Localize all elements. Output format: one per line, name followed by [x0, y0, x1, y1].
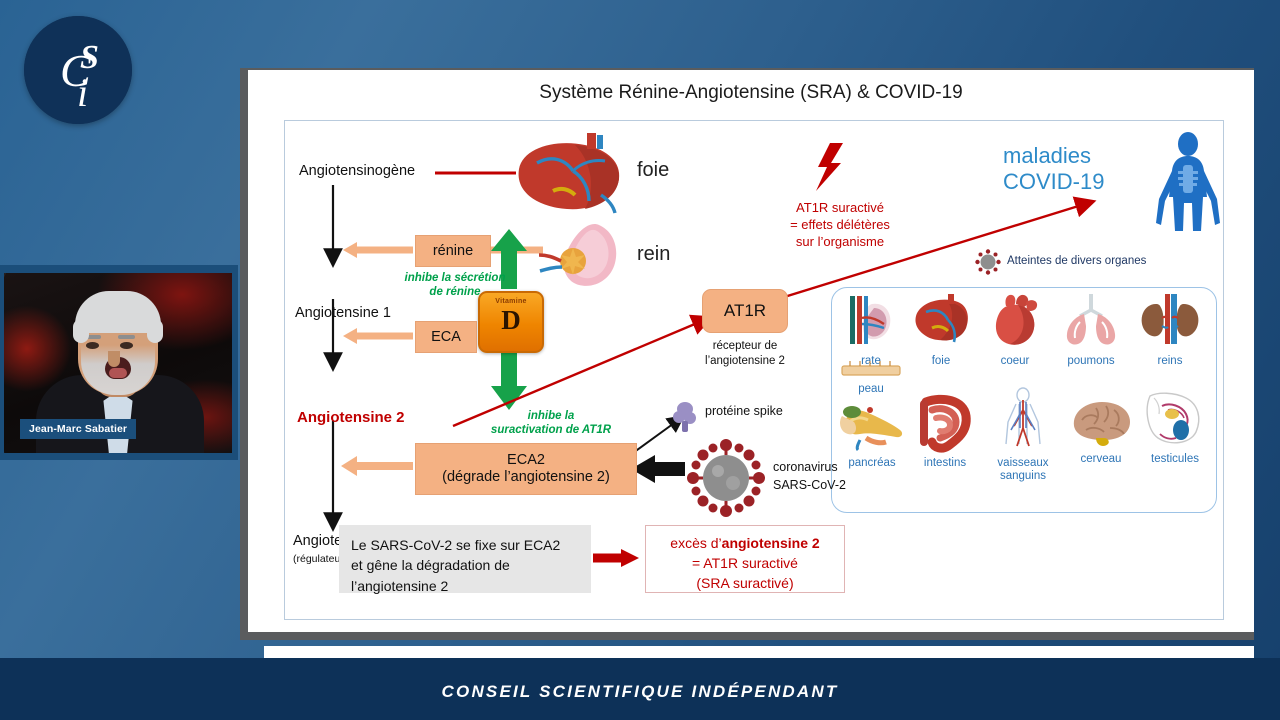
conclusion-grey-box: Le SARS-CoV-2 se fixe sur ECA2 et gêne l… [339, 525, 591, 593]
speaker-nose [108, 351, 120, 367]
speaker-brow-right [118, 335, 135, 339]
logo-letter-i: i [77, 70, 88, 115]
presentation-screen: C S i Jean-Marc Sabatier Système Rénine-… [0, 0, 1280, 720]
label-angiotensine-2: Angiotensine 2 [297, 409, 405, 426]
note-inhibe-suractivation: inhibe la suractivation de AT1R [471, 409, 631, 438]
label-coronavirus-line1: coronavirus [773, 459, 846, 477]
lightning-bolt-icon [816, 143, 843, 191]
kidneys-icon [1134, 292, 1206, 350]
banner-text: CONSEIL SCIENTIFIQUE INDÉPENDANT [0, 682, 1280, 702]
box-eca2-line2: (dégrade l’angiotensine 2) [442, 469, 610, 486]
alert-line3: sur l’organisme [745, 233, 935, 250]
vitamin-d-letter: D [480, 307, 542, 334]
virus-small-icon [975, 249, 1001, 275]
label-rein: rein [637, 243, 670, 266]
intestines-icon [912, 394, 978, 452]
skin-icon [838, 360, 904, 378]
arrow-virus-to-eca2 [631, 455, 685, 483]
label-angiotensinogene: Angiotensinogène [299, 163, 415, 179]
organ-testicules-label: testicules [1140, 453, 1210, 466]
slide-title: Système Rénine-Angiotensine (SRA) & COVI… [248, 82, 1254, 104]
liver-icon [509, 133, 627, 217]
conclusion-red-line1-prefix: excès d’ [670, 535, 721, 551]
speaker-eye-right [120, 342, 133, 349]
organ-panel: rate foie [831, 287, 1217, 513]
organ-foie-label: foie [908, 355, 974, 368]
conclusion-red-line2: = AT1R suractivé [652, 554, 838, 574]
label-coronavirus: coronavirus SARS-CoV-2 [773, 459, 846, 494]
label-spike-protein: protéine spike [705, 404, 783, 418]
organ-cerveau-label: cerveau [1066, 453, 1136, 466]
heart-icon [980, 292, 1050, 350]
note-inhibe-secretion: inhibe la sécrétion de rénine [395, 271, 515, 300]
csi-logo-mark: C S i [24, 16, 132, 124]
organ-vaisseaux: vaisseaux sanguins [986, 388, 1060, 483]
human-body-icon [1145, 131, 1231, 243]
organ-vaisseaux-label-line1: vaisseaux [986, 457, 1060, 470]
orange-arrow-eca2-left [341, 456, 413, 476]
conclusion-grey-line1: Le SARS-CoV-2 se fixe sur ECA2 [351, 535, 579, 555]
organ-cerveau: cerveau [1066, 396, 1136, 466]
note-inhibe-secretion-line1: inhibe la sécrétion [395, 271, 515, 285]
label-maladies-covid: maladies COVID-19 [1003, 143, 1104, 195]
caption-at1r: récepteur de l’angiotensine 2 [681, 339, 809, 369]
participant-name-label: Jean-Marc Sabatier [20, 419, 136, 439]
label-coronavirus-line2: SARS-CoV-2 [773, 477, 846, 495]
conclusion-red-box: excès d’angiotensine 2 = AT1R suractivé … [645, 525, 845, 593]
testicles-icon [1140, 388, 1210, 448]
organ-poumons: poumons [1054, 292, 1128, 368]
label-maladies-line2: COVID-19 [1003, 169, 1104, 195]
webcam-tile[interactable]: Jean-Marc Sabatier [0, 265, 238, 460]
organ-peau: peau [838, 360, 904, 396]
webcam-video: Jean-Marc Sabatier [4, 273, 232, 453]
label-foie: foie [637, 159, 669, 182]
conclusion-grey-line3: l’angiotensine 2 [351, 576, 579, 596]
box-renine: rénine [415, 235, 491, 267]
box-eca: ECA [415, 321, 477, 353]
spike-protein-icon [671, 399, 699, 433]
organ-pancreas-label: pancréas [836, 457, 908, 470]
blood-vessels-icon [986, 388, 1060, 452]
organ-reins-label: reins [1134, 355, 1206, 368]
label-angiotensine-1: Angiotensine 1 [295, 305, 391, 321]
caption-at1r-line1: récepteur de [681, 339, 809, 354]
caption-at1r-line2: l’angiotensine 2 [681, 354, 809, 369]
organ-coeur-label: coeur [980, 355, 1050, 368]
orange-arrow-renine-left [343, 242, 413, 258]
alert-at1r-suractive: AT1R suractivé = effets délétères sur l’… [745, 199, 935, 250]
conclusion-red-line1-bold: angiotensine 2 [722, 535, 820, 551]
organ-vaisseaux-label-line2: sanguins [986, 470, 1060, 483]
orange-arrow-eca-left [343, 328, 413, 344]
conclusion-red-line3: (SRA suractivé) [652, 574, 838, 594]
organ-intestins-label: intestins [912, 457, 978, 470]
diagram-canvas: Vitamine D Angiotensinogène foie rein ré… [284, 120, 1224, 620]
note-inhibe-suractivation-line1: inhibe la [471, 409, 631, 423]
organ-poumons-label: poumons [1054, 355, 1128, 368]
alert-line2: = effets délétères [745, 216, 935, 233]
spleen-icon [838, 294, 904, 350]
organ-rate: rate [838, 294, 904, 368]
organ-reins: reins [1134, 292, 1206, 368]
organ-foie: foie [908, 294, 974, 368]
organ-intestins: intestins [912, 394, 978, 470]
lungs-icon [1054, 292, 1128, 350]
brain-icon [1066, 396, 1136, 448]
conclusion-grey-line2: et gêne la dégradation de [351, 555, 579, 575]
label-atteintes-organes: Atteintes de divers organes [1007, 255, 1146, 267]
bottom-banner: CONSEIL SCIENTIFIQUE INDÉPENDANT [0, 658, 1280, 720]
organ-vaisseaux-label: vaisseaux sanguins [986, 457, 1060, 483]
coronavirus-icon [687, 439, 765, 517]
label-maladies-line1: maladies [1003, 143, 1104, 169]
organ-testicules: testicules [1140, 388, 1210, 466]
note-inhibe-suractivation-line2: suractivation de AT1R [471, 423, 631, 437]
arrow-grey-to-red [593, 549, 639, 567]
liver-small-icon [908, 294, 974, 350]
kidney-icon [537, 217, 623, 297]
conclusion-red-line1: excès d’angiotensine 2 [652, 534, 838, 554]
note-inhibe-secretion-line2: de rénine [395, 285, 515, 299]
speaker-eye-left [86, 342, 99, 349]
organ-peau-label: peau [838, 383, 904, 396]
organ-pancreas: pancréas [836, 400, 908, 470]
box-at1r: AT1R [702, 289, 788, 333]
csi-logo: C S i [24, 16, 132, 124]
vitamin-d-badge: Vitamine D [478, 291, 544, 353]
organ-coeur: coeur [980, 292, 1050, 368]
box-eca2-line1: ECA2 [507, 452, 545, 469]
box-eca2: ECA2 (dégrade l’angiotensine 2) [415, 443, 637, 495]
alert-line1: AT1R suractivé [745, 199, 935, 216]
pancreas-icon [836, 400, 908, 452]
